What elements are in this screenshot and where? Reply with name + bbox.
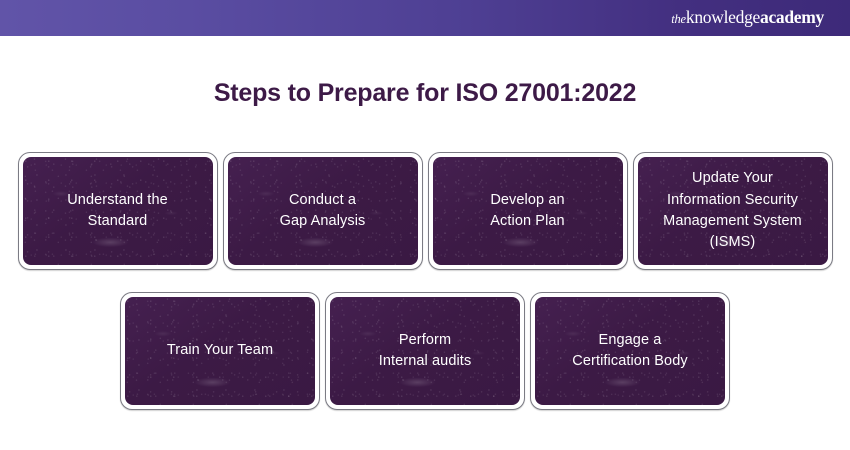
step-card-label: Engage a Certification Body (566, 330, 693, 373)
step-card-update-your-isms[interactable]: Update Your Information Security Managem… (633, 152, 833, 270)
step-card-conduct-a-gap-analysis[interactable]: Conduct a Gap Analysis (223, 152, 423, 270)
step-card-surface: Conduct a Gap Analysis (228, 157, 418, 265)
brand-logo-knowledge: knowledge (686, 9, 760, 27)
step-card-surface: Perform Internal audits (330, 297, 520, 405)
step-card-surface: Engage a Certification Body (535, 297, 725, 405)
step-card-perform-internal-audits[interactable]: Perform Internal audits (325, 292, 525, 410)
step-row-1: Understand the Standard Conduct a Gap An… (0, 152, 850, 270)
brand-logo-the: the (671, 13, 686, 26)
step-card-engage-a-certification-body[interactable]: Engage a Certification Body (530, 292, 730, 410)
step-card-label: Train Your Team (161, 340, 279, 361)
step-card-understand-the-standard[interactable]: Understand the Standard (18, 152, 218, 270)
step-card-train-your-team[interactable]: Train Your Team (120, 292, 320, 410)
page-title: Steps to Prepare for ISO 27001:2022 (0, 78, 850, 108)
brand-logo[interactable]: theknowledgeacademy (671, 9, 824, 27)
step-card-surface: Understand the Standard (23, 157, 213, 265)
step-row-2: Train Your Team Perform Internal audits … (0, 292, 850, 410)
step-card-surface: Develop an Action Plan (433, 157, 623, 265)
step-card-label: Conduct a Gap Analysis (274, 190, 372, 233)
step-card-develop-an-action-plan[interactable]: Develop an Action Plan (428, 152, 628, 270)
step-card-label: Develop an Action Plan (484, 190, 570, 233)
step-card-label: Update Your Information Security Managem… (657, 168, 808, 253)
step-card-label: Understand the Standard (61, 190, 174, 233)
step-card-surface: Update Your Information Security Managem… (638, 157, 828, 265)
steps-area: Understand the Standard Conduct a Gap An… (0, 152, 850, 410)
step-card-surface: Train Your Team (125, 297, 315, 405)
brand-logo-academy: academy (760, 9, 824, 27)
step-card-label: Perform Internal audits (373, 330, 478, 373)
header-bar: theknowledgeacademy (0, 0, 850, 36)
